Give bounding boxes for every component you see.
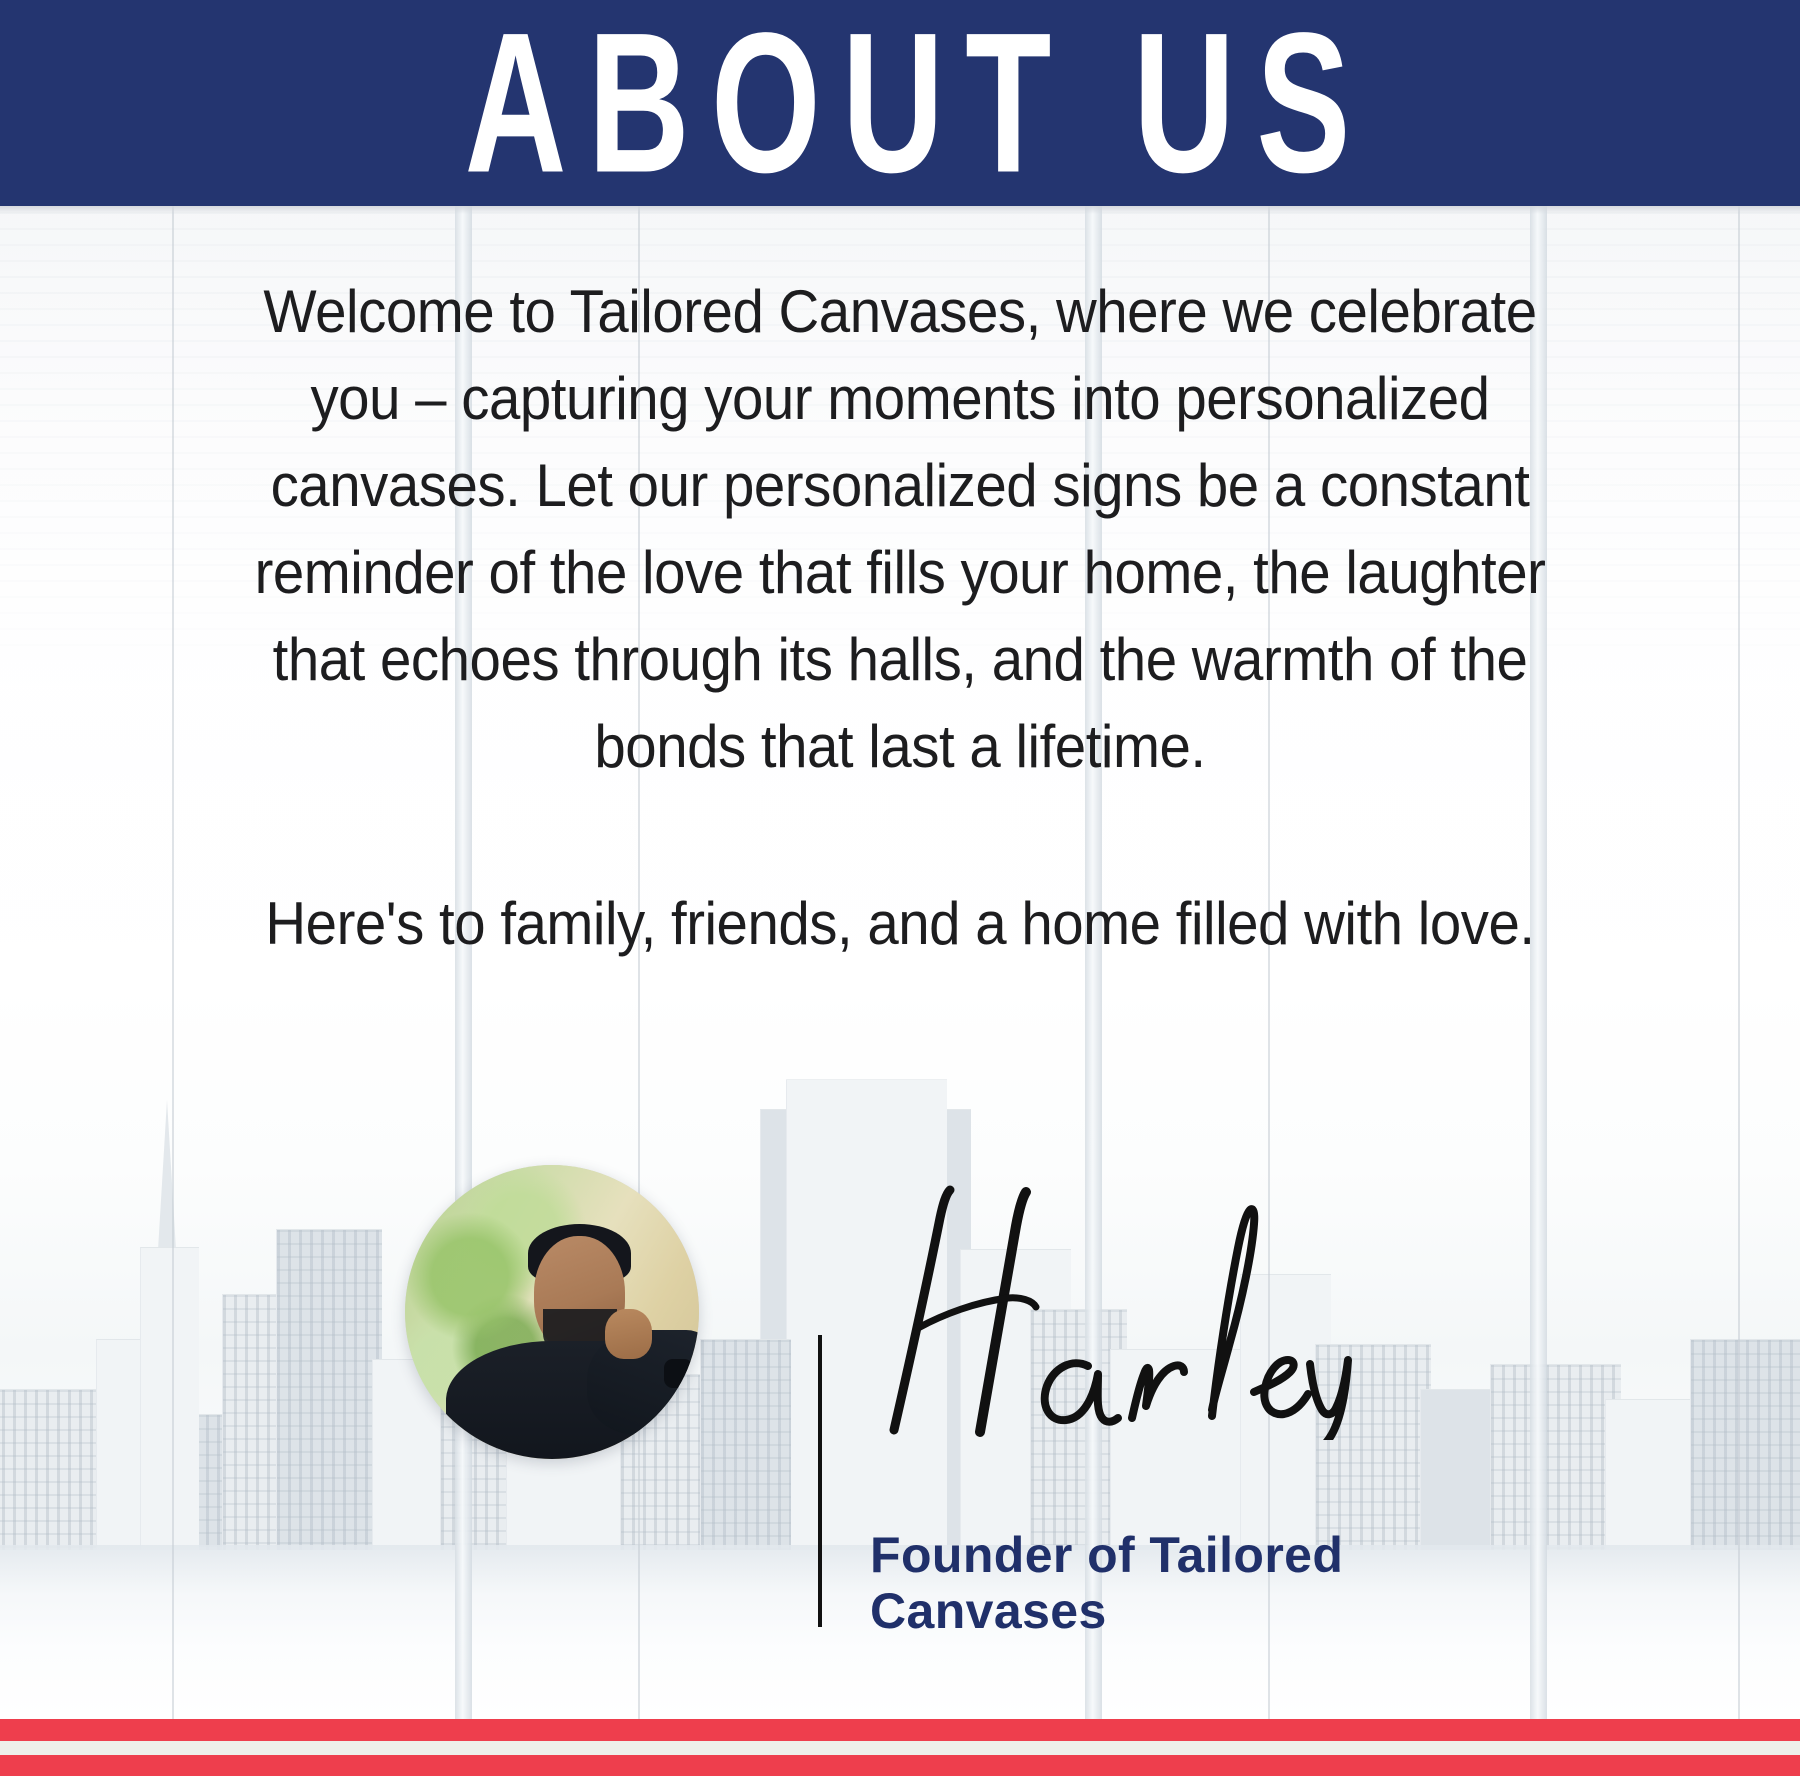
footer-bar-gap	[0, 1741, 1800, 1755]
header-bar: ABOUT US	[0, 0, 1800, 206]
founder-title-line-1: Founder of Tailored	[870, 1527, 1430, 1583]
founder-title-line-2: Canvases	[870, 1583, 1430, 1639]
about-copy: Welcome to Tailored Canvases, where we c…	[233, 268, 1568, 967]
paragraph-spacer	[233, 790, 1568, 880]
about-paragraph-1: Welcome to Tailored Canvases, where we c…	[233, 268, 1568, 790]
avatar	[405, 1165, 699, 1459]
vertical-divider	[818, 1335, 822, 1627]
about-paragraph-2: Here's to family, friends, and a home fi…	[233, 880, 1568, 967]
footer-accent-bar-bottom	[0, 1755, 1800, 1776]
about-us-page: ABOUT US Welcome to Tailored Canvases, w…	[0, 0, 1800, 1776]
signature-harley	[840, 1160, 1360, 1440]
footer-accent-bar-top	[0, 1719, 1800, 1741]
founder-title: Founder of Tailored Canvases	[870, 1527, 1430, 1639]
page-title: ABOUT US	[164, 0, 1656, 222]
